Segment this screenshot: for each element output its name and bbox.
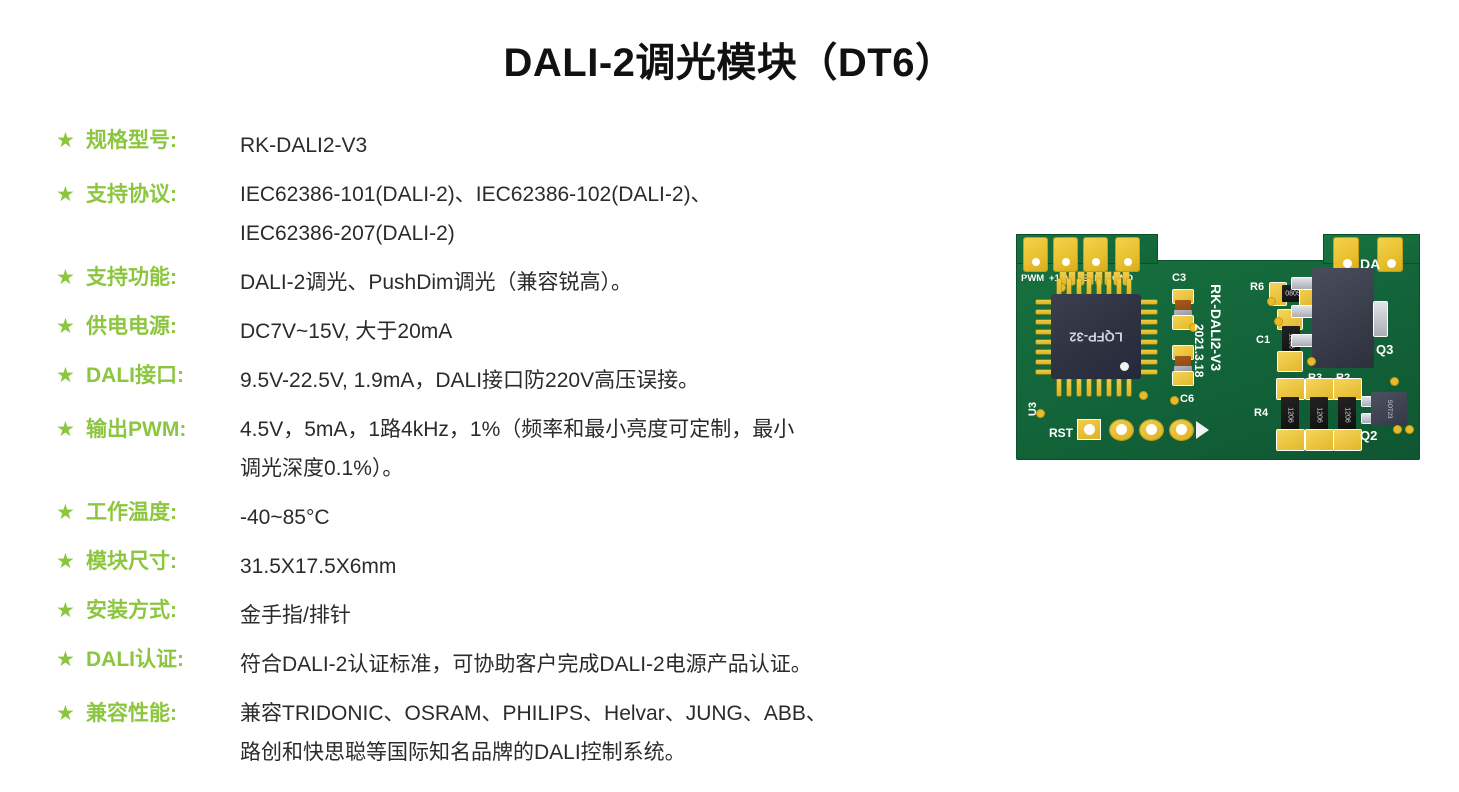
via <box>1406 426 1413 433</box>
spec-row-certification: ★ DALI认证: 符合DALI-2认证标准，可协助客户完成DALI-2电源产品… <box>56 645 956 684</box>
pad-pwm-hole <box>1032 258 1040 266</box>
qfp-pin <box>1140 310 1157 314</box>
spec-row-dimensions: ★ 模块尺寸: 31.5X17.5X6mm <box>56 547 956 586</box>
via <box>1308 358 1315 365</box>
spec-value: 31.5X17.5X6mm <box>240 547 956 586</box>
pad-err-hole <box>1092 258 1100 266</box>
pcb-product-image: PWM +12V ERR GND DA <box>1016 234 1420 460</box>
pad-gnd <box>1116 238 1139 271</box>
spec-label: 安装方式: <box>86 596 240 626</box>
pad-gnd-hole <box>1124 258 1132 266</box>
qfp-pin <box>1140 370 1157 374</box>
via <box>1391 378 1398 385</box>
page-title: DALI-2调光模块（DT6） <box>0 30 1459 88</box>
via <box>1394 426 1401 433</box>
star-icon: ★ <box>56 498 86 528</box>
smd-pad <box>1306 379 1333 399</box>
spec-label: 输出PWM: <box>86 410 240 449</box>
silk-ref-r6: R6 <box>1250 281 1264 293</box>
spec-value-line: 符合DALI-2认证标准，可协助客户完成DALI-2电源产品认证。 <box>240 645 956 684</box>
silk-ref-c3: C3 <box>1172 272 1186 284</box>
spec-row-compatibility: ★ 兼容性能: 兼容TRIDONIC、OSRAM、PHILIPS、Helvar、… <box>56 694 956 772</box>
spec-value-line: 9.5V-22.5V, 1.9mA，DALI接口防220V高压误接。 <box>240 361 956 400</box>
smd-pad <box>1306 430 1333 450</box>
pad-pwm <box>1024 238 1047 271</box>
qfp-pin <box>1097 379 1101 396</box>
spec-row-power-supply: ★ 供电电源: DC7V~15V, 大于20mA <box>56 312 956 351</box>
spec-row-model: ★ 规格型号: RK-DALI2-V3 <box>56 126 956 165</box>
spec-value-line: -40~85°C <box>240 498 956 537</box>
ic-lead <box>1292 306 1314 317</box>
qfp-pin <box>1087 379 1091 396</box>
silk-ref-q2: Q2 <box>1360 428 1377 443</box>
smd-pad <box>1334 430 1361 450</box>
via <box>1171 397 1178 404</box>
qfp-pin <box>1077 379 1081 396</box>
pad-12v-hole <box>1062 258 1070 266</box>
star-icon: ★ <box>56 694 86 733</box>
via-pad-hole <box>1146 424 1157 435</box>
smd-pad <box>1277 430 1304 450</box>
spec-value: 9.5V-22.5V, 1.9mA，DALI接口防220V高压误接。 <box>240 361 956 400</box>
silk-ref-r4: R4 <box>1254 407 1268 419</box>
silk-ref-q3: Q3 <box>1376 342 1393 357</box>
spec-value: -40~85°C <box>240 498 956 537</box>
qfp-pin <box>1140 350 1157 354</box>
via-pad-hole <box>1116 424 1127 435</box>
star-icon: ★ <box>56 410 86 449</box>
spec-value: DC7V~15V, 大于20mA <box>240 312 956 351</box>
test-pad-rst-hole <box>1084 424 1095 435</box>
spec-value: IEC62386-101(DALI-2)、IEC62386-102(DALI-2… <box>240 175 956 253</box>
silk-date-code: 2021.3.18 <box>1192 324 1206 377</box>
spec-value-line: 31.5X17.5X6mm <box>240 547 956 586</box>
qfp-orientation-dot <box>1120 362 1129 371</box>
silk-ref-c1: C1 <box>1256 334 1270 346</box>
qfp-chip-marking: LQFP-32 <box>1069 329 1122 344</box>
qfp-pin <box>1117 379 1121 396</box>
smd-pad <box>1334 379 1361 399</box>
spec-value: 4.5V，5mA，1路4kHz，1%（频率和最小亮度可定制，最小 调光深度0.1… <box>240 410 956 488</box>
spec-value-line: 4.5V，5mA，1路4kHz，1%（频率和最小亮度可定制，最小 <box>240 410 956 449</box>
spec-label: 工作温度: <box>86 498 240 528</box>
star-icon: ★ <box>56 263 86 293</box>
spec-row-mounting: ★ 安装方式: 金手指/排针 <box>56 596 956 635</box>
ic-lead <box>1292 278 1314 289</box>
smd-code-r6: 0805 <box>1285 290 1301 297</box>
star-icon: ★ <box>56 547 86 577</box>
silk-ref-c6: C6 <box>1180 393 1194 405</box>
spec-value-line: 金手指/排针 <box>240 596 956 635</box>
spec-label: DALI认证: <box>86 645 240 675</box>
star-icon: ★ <box>56 361 86 391</box>
spec-row-temperature: ★ 工作温度: -40~85°C <box>56 498 956 537</box>
spec-label: 模块尺寸: <box>86 547 240 577</box>
spec-row-dali-interface: ★ DALI接口: 9.5V-22.5V, 1.9mA，DALI接口防220V高… <box>56 361 956 400</box>
spec-value-line: IEC62386-207(DALI-2) <box>240 214 956 253</box>
spec-value: 兼容TRIDONIC、OSRAM、PHILIPS、Helvar、JUNG、ABB… <box>240 694 956 772</box>
star-icon: ★ <box>56 175 86 214</box>
qfp-pin <box>1140 360 1157 364</box>
spec-label: 支持功能: <box>86 263 240 293</box>
spec-value-line: RK-DALI2-V3 <box>240 126 956 165</box>
smd-component-r3: 1206 <box>1310 397 1328 433</box>
pad-label-pwm: PWM <box>1021 273 1044 284</box>
spec-value: 金手指/排针 <box>240 596 956 635</box>
smd-code-r4: 1206 <box>1287 407 1294 423</box>
star-icon: ★ <box>56 645 86 675</box>
smd-component-r4: 1206 <box>1281 397 1299 433</box>
qfp-pin <box>1127 379 1131 396</box>
silk-part-number: RK-DALI2-V3 <box>1208 284 1224 371</box>
pad-err <box>1084 238 1107 271</box>
via <box>1037 410 1044 417</box>
spec-row-functions: ★ 支持功能: DALI-2调光、PushDim调光（兼容锐高）。 <box>56 263 956 302</box>
qfp-pin <box>1107 379 1111 396</box>
spec-value: RK-DALI2-V3 <box>240 126 956 165</box>
polarity-marker-icon <box>1196 421 1209 439</box>
spec-label: 支持协议: <box>86 175 240 214</box>
smd-code-r3: 1206 <box>1316 407 1323 423</box>
smd-component-r2: 1206 <box>1338 397 1356 433</box>
spec-value-line: 调光深度0.1%）。 <box>240 449 956 488</box>
star-icon: ★ <box>56 126 86 156</box>
spec-value: 符合DALI-2认证标准，可协助客户完成DALI-2电源产品认证。 <box>240 645 956 684</box>
sot-marking: SOT23 <box>1386 399 1392 418</box>
sot23-package-q2: SOT23 <box>1371 392 1407 426</box>
pad-da-1-hole <box>1343 259 1352 268</box>
spec-label: 供电电源: <box>86 312 240 342</box>
smd-pad <box>1278 352 1302 371</box>
pad-12v <box>1054 238 1077 271</box>
spec-value-line: IEC62386-101(DALI-2)、IEC62386-102(DALI-2… <box>240 175 956 214</box>
spec-list: ★ 规格型号: RK-DALI2-V3 ★ 支持协议: IEC62386-101… <box>56 126 956 782</box>
ic-lead <box>1292 335 1314 346</box>
spec-label: 兼容性能: <box>86 694 240 733</box>
ic-tab-lead <box>1374 302 1387 336</box>
qfp-pin <box>1140 320 1157 324</box>
qfp-pin <box>1057 379 1061 396</box>
spec-label: DALI接口: <box>86 361 240 391</box>
silk-label-rst: RST <box>1049 426 1073 440</box>
smd-code-r2: 1206 <box>1344 407 1351 423</box>
star-icon: ★ <box>56 312 86 342</box>
smd-pad <box>1277 379 1304 399</box>
via <box>1275 318 1282 325</box>
qfp-pin <box>1140 300 1157 304</box>
spec-row-pwm-output: ★ 输出PWM: 4.5V，5mA，1路4kHz，1%（频率和最小亮度可定制，最… <box>56 410 956 488</box>
pad-da-2-hole <box>1387 259 1396 268</box>
smd-pad <box>1173 372 1193 385</box>
spec-label: 规格型号: <box>86 126 240 156</box>
via-pad-hole <box>1176 424 1187 435</box>
spec-value-line: DC7V~15V, 大于20mA <box>240 312 956 351</box>
qfp-pin <box>1140 330 1157 334</box>
ic-package-q3 <box>1312 268 1374 368</box>
spec-value-line: DALI-2调光、PushDim调光（兼容锐高）。 <box>240 263 956 302</box>
qfp-pin <box>1067 379 1071 396</box>
spec-value-line: 路创和快思聪等国际知名品牌的DALI控制系统。 <box>240 733 956 772</box>
star-icon: ★ <box>56 596 86 626</box>
spec-row-protocols: ★ 支持协议: IEC62386-101(DALI-2)、IEC62386-10… <box>56 175 956 253</box>
spec-value-line: 兼容TRIDONIC、OSRAM、PHILIPS、Helvar、JUNG、ABB… <box>240 694 956 733</box>
qfp-pin <box>1140 340 1157 344</box>
via <box>1140 392 1147 399</box>
spec-value: DALI-2调光、PushDim调光（兼容锐高）。 <box>240 263 956 302</box>
via <box>1268 298 1275 305</box>
